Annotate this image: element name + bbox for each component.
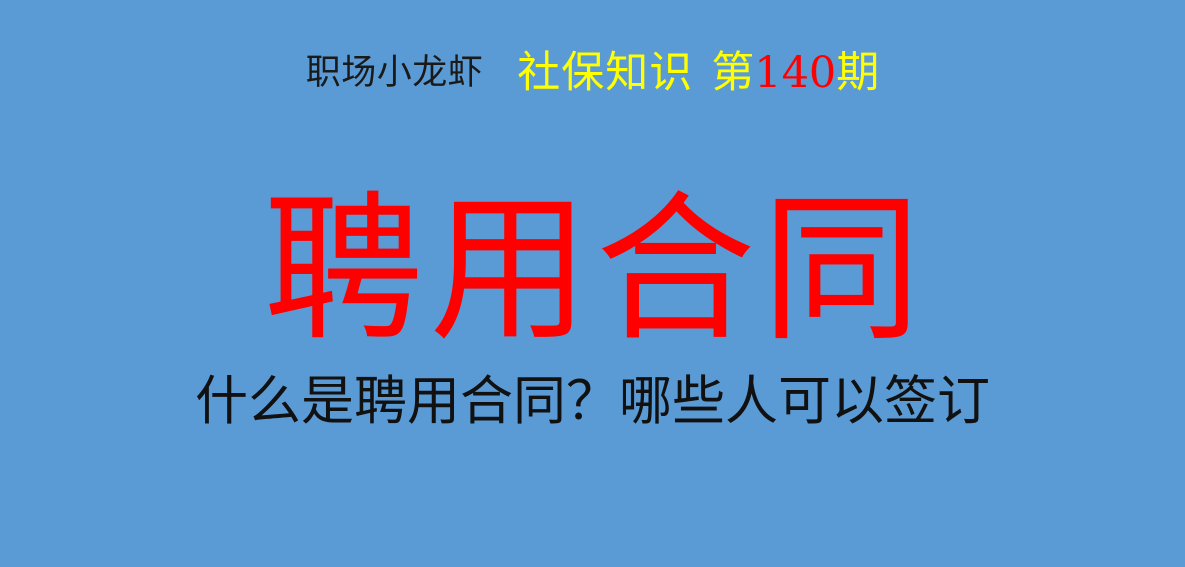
channel-name: 职场小龙虾: [306, 56, 484, 91]
header-row: 职场小龙虾 社保知识 第140期: [0, 52, 1185, 114]
series-title: 社保知识: [517, 52, 693, 95]
page-subtitle: 什么是聘用合同？哪些人可以签订: [0, 372, 1185, 433]
page-title: 聘用合同: [0, 186, 1185, 354]
issue-number: 140: [754, 48, 836, 98]
issue-suffix: 期: [836, 48, 879, 98]
issue-prefix: 第: [711, 48, 754, 98]
lower-empty-area: [0, 445, 1185, 567]
slide-canvas: 职场小龙虾 社保知识 第140期 聘用合同 什么是聘用合同？哪些人可以签订: [0, 0, 1185, 567]
issue-badge: 第140期: [711, 52, 879, 95]
